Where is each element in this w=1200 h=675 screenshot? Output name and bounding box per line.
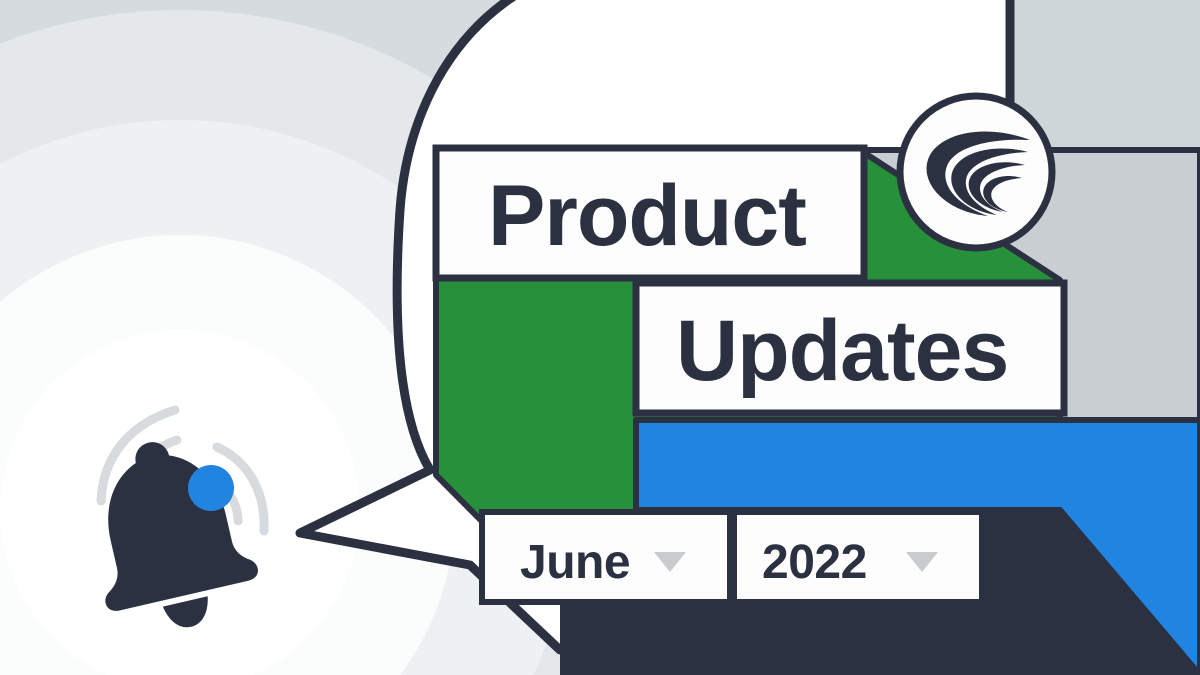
- bell-notification-dot: [188, 465, 234, 511]
- product-updates-banner: Product Updates June 2022: [0, 0, 1200, 675]
- bell-layer: [0, 0, 1200, 675]
- notification-bell-icon: [73, 410, 268, 644]
- bell-clapper: [163, 596, 214, 632]
